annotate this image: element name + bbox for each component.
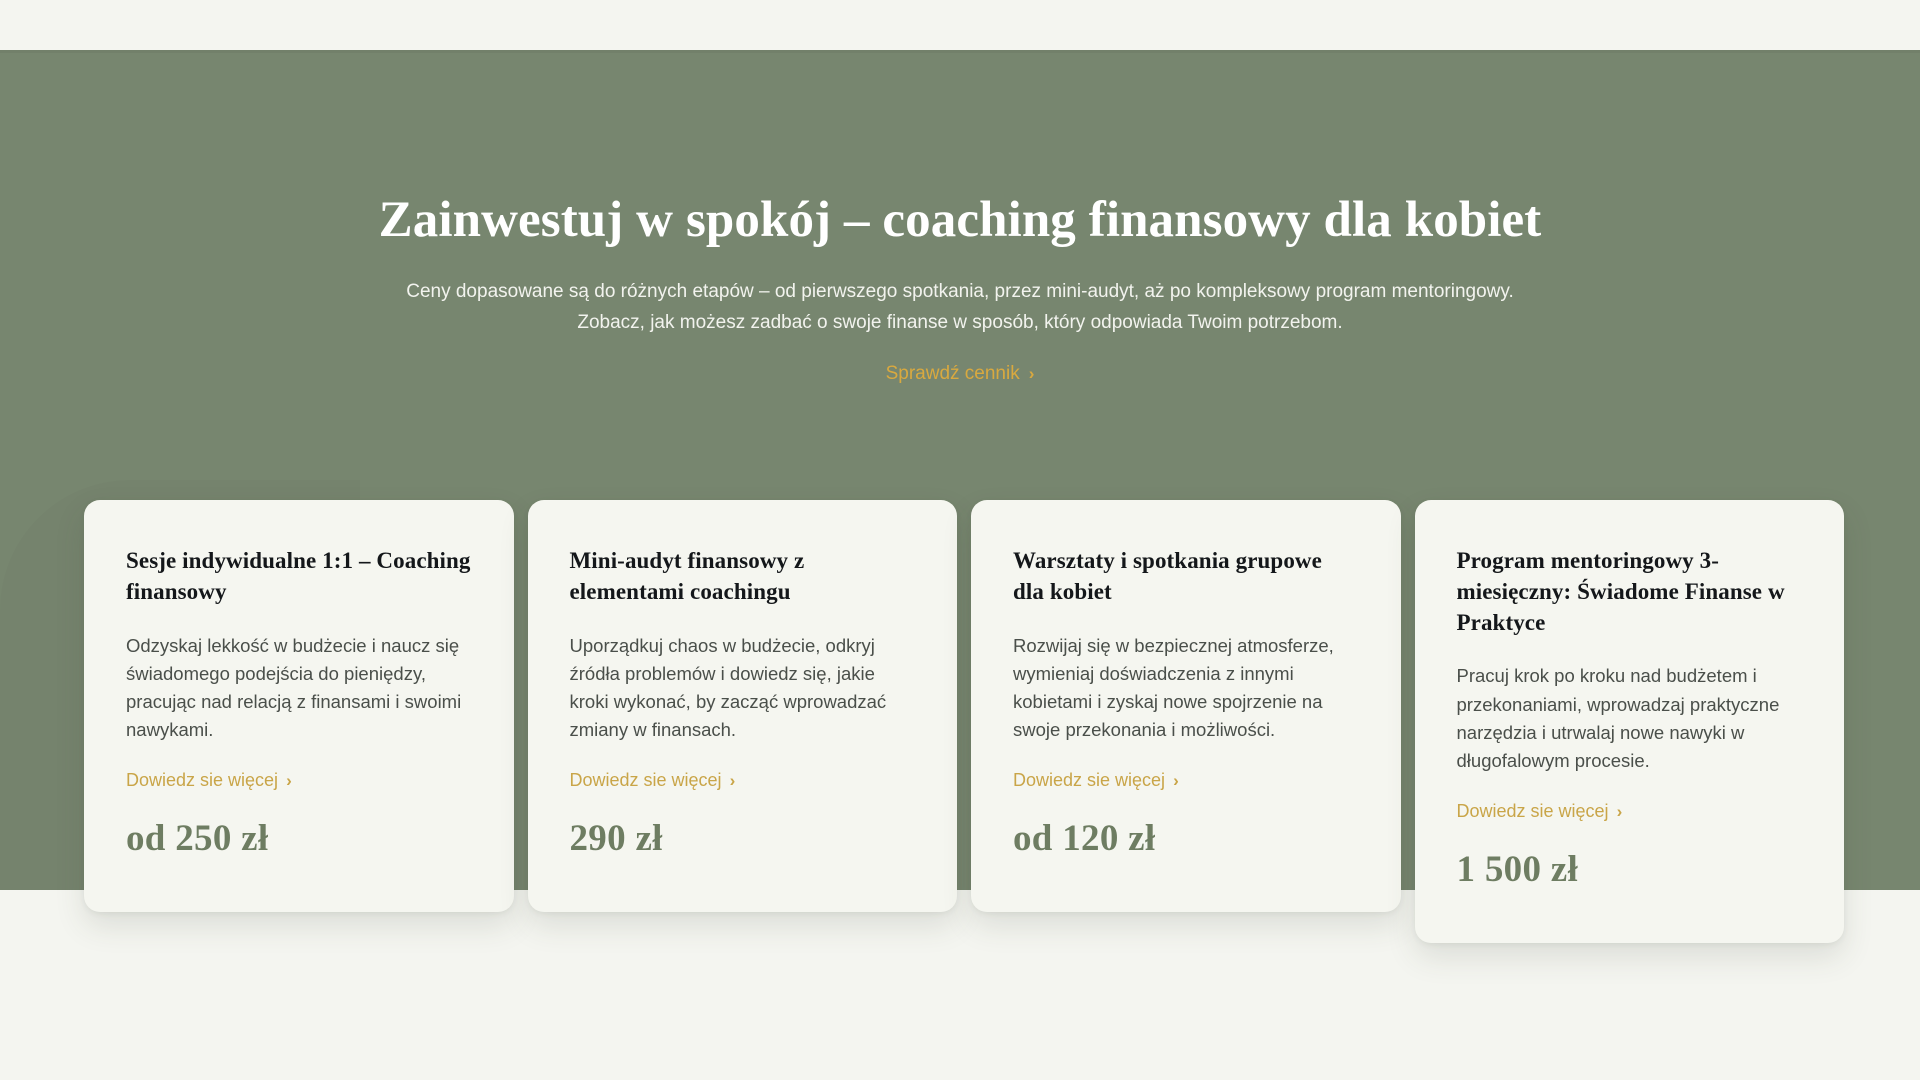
hero-link-wrapper: Sprawdź cennik › [0,363,1920,385]
learn-more-link[interactable]: Dowiedz sie więcej › [126,770,292,791]
check-pricing-link-label: Sprawdź cennik [886,363,1020,385]
pricing-card[interactable]: Mini-audyt finansowy z elementami coachi… [528,500,958,912]
learn-more-link[interactable]: Dowiedz sie więcej › [1457,801,1623,822]
pricing-card-description: Odzyskaj lekkość w budżecie i naucz się … [126,632,472,744]
learn-more-label: Dowiedz sie więcej [570,770,722,791]
hero-subtitle: Ceny dopasowane są do różnych etapów – o… [390,277,1530,339]
pricing-card-description: Pracuj krok po kroku nad budżetem i prze… [1457,662,1803,774]
chevron-right-icon: › [1029,365,1035,382]
pricing-card-description: Rozwijaj się w bezpiecznej atmosferze, w… [1013,632,1359,744]
hero-section: Zainwestuj w spokój – coaching finansowy… [0,50,1920,385]
page-title: Zainwestuj w spokój – coaching finansowy… [0,192,1920,249]
pricing-card-price: 1 500 zł [1457,850,1803,891]
pricing-card[interactable]: Program mentoringowy 3-miesięczny: Świad… [1415,500,1845,943]
pricing-card-title: Program mentoringowy 3-miesięczny: Świad… [1457,546,1803,638]
learn-more-label: Dowiedz sie więcej [1013,770,1165,791]
learn-more-label: Dowiedz sie więcej [1457,801,1609,822]
pricing-card-price: 290 zł [570,819,916,860]
pricing-card-title: Warsztaty i spotkania grupowe dla kobiet [1013,546,1359,608]
pricing-card[interactable]: Sesje indywidualne 1:1 – Coaching finans… [84,500,514,912]
pricing-card-description: Uporządkuj chaos w budżecie, odkryj źród… [570,632,916,744]
chevron-right-icon: › [730,772,736,789]
pricing-card[interactable]: Warsztaty i spotkania grupowe dla kobiet… [971,500,1401,912]
learn-more-label: Dowiedz sie więcej [126,770,278,791]
pricing-card-title: Sesje indywidualne 1:1 – Coaching finans… [126,546,472,608]
chevron-right-icon: › [1617,803,1623,820]
pricing-page: Zainwestuj w spokój – coaching finansowy… [0,0,1920,1080]
learn-more-link[interactable]: Dowiedz sie więcej › [1013,770,1179,791]
chevron-right-icon: › [1173,772,1179,789]
learn-more-link[interactable]: Dowiedz sie więcej › [570,770,736,791]
chevron-right-icon: › [286,772,292,789]
pricing-card-price: od 120 zł [1013,819,1359,860]
top-strip [0,0,1920,50]
pricing-card-list: Sesje indywidualne 1:1 – Coaching finans… [84,500,1844,943]
pricing-card-price: od 250 zł [126,819,472,860]
check-pricing-link[interactable]: Sprawdź cennik › [886,363,1035,385]
pricing-card-title: Mini-audyt finansowy z elementami coachi… [570,546,916,608]
